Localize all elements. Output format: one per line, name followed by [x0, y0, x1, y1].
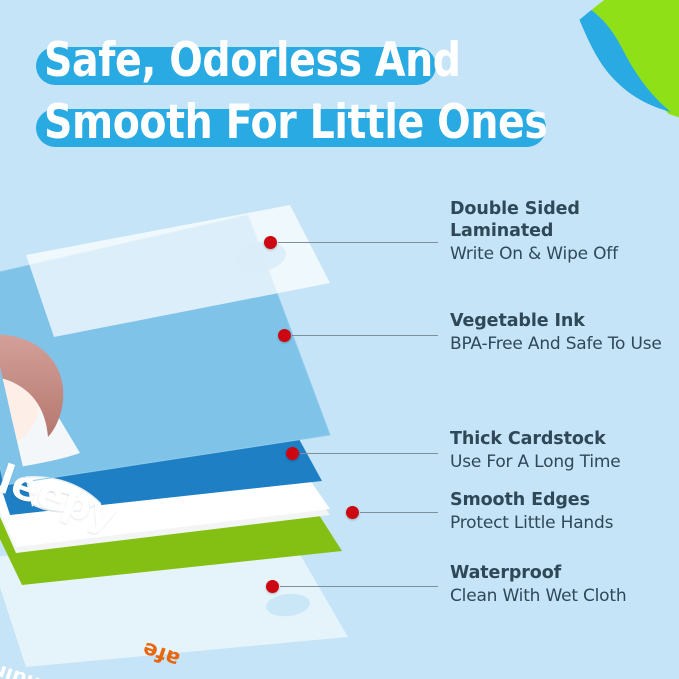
- callout-dot-3: [286, 447, 299, 460]
- callout-subtitle: Use For A Long Time: [450, 451, 621, 473]
- leader-line-3: [300, 453, 438, 454]
- callout-smooth-edges: Smooth Edges Protect Little Hands: [450, 489, 613, 534]
- flashcard-stack-illustration: Sleepy ndings afe: [0, 185, 410, 679]
- leader-line-1: [278, 242, 438, 243]
- callout-waterproof: Waterproof Clean With Wet Cloth: [450, 562, 626, 607]
- callout-title-line1: Waterproof: [450, 562, 626, 584]
- callout-title-line1: Smooth Edges: [450, 489, 613, 511]
- callout-subtitle: Write On & Wipe Off: [450, 243, 618, 265]
- callout-vegetable-ink: Vegetable Ink BPA-Free And Safe To Use: [450, 310, 662, 355]
- callout-dot-4: [346, 506, 359, 519]
- callout-subtitle: BPA-Free And Safe To Use: [450, 333, 662, 355]
- callout-dot-2: [278, 329, 291, 342]
- callout-subtitle: Clean With Wet Cloth: [450, 585, 626, 607]
- title-text-2: Smooth For Little Ones: [44, 94, 547, 152]
- title-line-1: Safe, Odorless And: [36, 36, 596, 90]
- callout-subtitle: Protect Little Hands: [450, 512, 613, 534]
- infographic-page: Safe, Odorless And Smooth For Little One…: [0, 0, 679, 679]
- callout-double-sided-laminated: Double Sided Laminated Write On & Wipe O…: [450, 198, 618, 265]
- callout-dot-5: [266, 580, 279, 593]
- page-title: Safe, Odorless And Smooth For Little One…: [36, 36, 596, 160]
- callout-title-line1: Vegetable Ink: [450, 310, 662, 332]
- leader-line-2: [292, 335, 438, 336]
- title-text-1: Safe, Odorless And: [44, 32, 461, 90]
- leader-line-4: [360, 512, 438, 513]
- title-line-2: Smooth For Little Ones: [36, 98, 596, 152]
- leader-line-5: [280, 586, 438, 587]
- callout-title-line1: Thick Cardstock: [450, 428, 621, 450]
- callout-thick-cardstock: Thick Cardstock Use For A Long Time: [450, 428, 621, 473]
- callout-title-line1: Double Sided: [450, 198, 618, 220]
- callout-dot-1: [264, 236, 277, 249]
- callout-title-line2: Laminated: [450, 220, 618, 242]
